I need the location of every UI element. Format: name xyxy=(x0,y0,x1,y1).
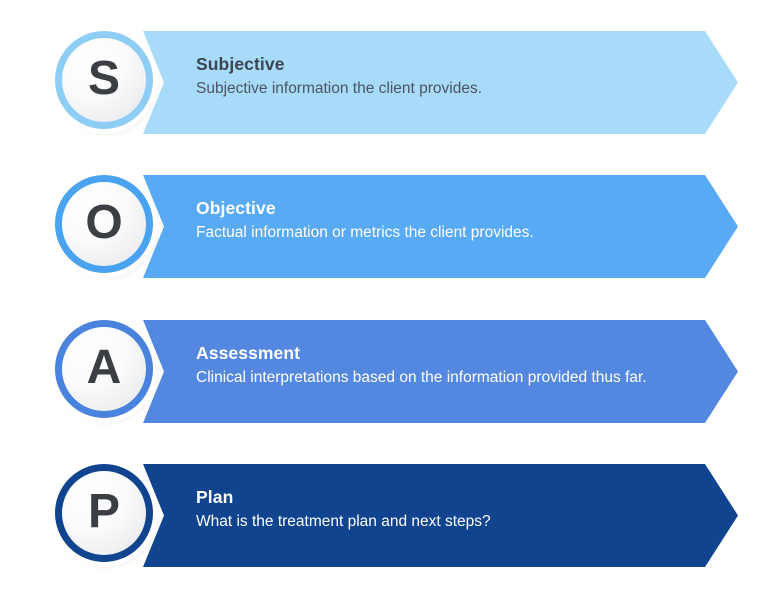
band-description: What is the treatment plan and next step… xyxy=(196,512,716,532)
soap-row: AssessmentClinical interpretations based… xyxy=(0,289,768,435)
band-title: Subjective xyxy=(196,54,716,76)
badge-letter: P xyxy=(55,464,153,562)
letter-badge: P xyxy=(55,464,153,562)
badge-letter: S xyxy=(55,31,153,129)
badge-letter: O xyxy=(55,175,153,273)
band-description: Clinical interpretations based on the in… xyxy=(196,368,716,388)
band-title: Plan xyxy=(196,487,716,509)
soap-row: PlanWhat is the treatment plan and next … xyxy=(0,433,768,579)
band-description: Factual information or metrics the clien… xyxy=(196,223,716,243)
band-text-block: PlanWhat is the treatment plan and next … xyxy=(196,487,716,532)
band-text-block: ObjectiveFactual information or metrics … xyxy=(196,198,716,243)
band-description: Subjective information the client provid… xyxy=(196,79,716,99)
soap-row: ObjectiveFactual information or metrics … xyxy=(0,144,768,290)
band-text-block: AssessmentClinical interpretations based… xyxy=(196,343,716,388)
soap-row: SubjectiveSubjective information the cli… xyxy=(0,0,768,146)
soap-note-diagram: SubjectiveSubjective information the cli… xyxy=(0,0,768,596)
band-title: Objective xyxy=(196,198,716,220)
letter-badge: S xyxy=(55,31,153,129)
badge-letter: A xyxy=(55,320,153,418)
band-title: Assessment xyxy=(196,343,716,365)
letter-badge: O xyxy=(55,175,153,273)
letter-badge: A xyxy=(55,320,153,418)
band-text-block: SubjectiveSubjective information the cli… xyxy=(196,54,716,99)
